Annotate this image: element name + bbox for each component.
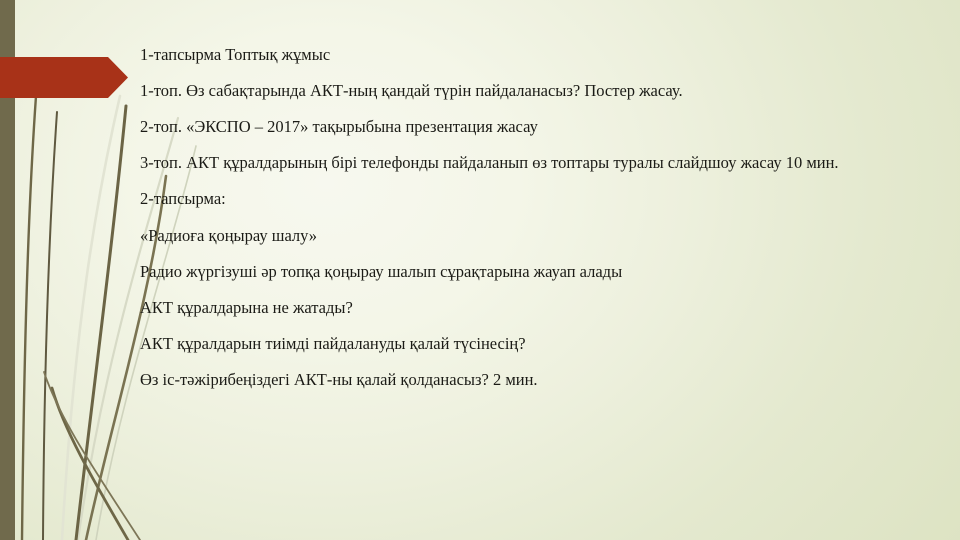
body-line: Радио жүргізуші әр топқа қоңырау шалып с…: [140, 261, 930, 283]
slide-body-text: 1-тапсырма Топтық жұмыс 1-топ. Өз сабақт…: [140, 44, 930, 391]
body-line: 1-топ. Өз сабақтарында АКТ-ның қандай тү…: [140, 80, 930, 102]
body-line: Өз іс-тәжірибеңіздегі АКТ-ны қалай қолда…: [140, 369, 930, 391]
body-line: «Радиоға қоңырау шалу»: [140, 225, 930, 247]
presentation-slide: 1-тапсырма Топтық жұмыс 1-топ. Өз сабақт…: [0, 0, 960, 540]
arrow-banner-shape: [0, 57, 128, 98]
body-line: 2-тапсырма:: [140, 188, 930, 210]
body-line: 3-топ. АКТ құралдарының бірі телефонды п…: [140, 152, 930, 174]
body-line: АКТ құралдарына не жатады?: [140, 297, 930, 319]
body-line: 1-тапсырма Топтық жұмыс: [140, 44, 930, 66]
body-line: АКТ құралдарын тиімді пайдалануды қалай …: [140, 333, 930, 355]
body-line: 2-топ. «ЭКСПО – 2017» тақырыбына презент…: [140, 116, 930, 138]
